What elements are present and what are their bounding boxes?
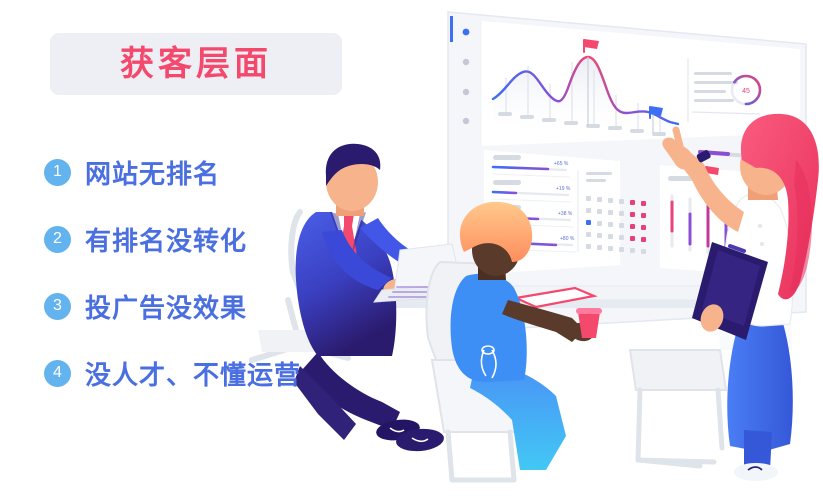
sidebar-active-indicator [450, 16, 453, 42]
title-banner: 获客层面 [50, 33, 342, 95]
sidebar-dot-3-icon[interactable] [463, 89, 469, 95]
donut-gauge-value: 45 [742, 88, 750, 95]
list-item[interactable]: 1 网站无排名 [44, 152, 374, 192]
list-number-badge: 2 [44, 226, 71, 253]
list-number-badge: 3 [44, 293, 71, 320]
shoe [734, 463, 778, 481]
list-number-badge: 1 [44, 159, 71, 186]
list-item-label: 投广告没效果 [85, 288, 247, 325]
progress-value-1: +65 % [554, 161, 569, 167]
illustration-stage: 45 +65 % +19 % [0, 0, 823, 500]
sidebar-dot-2-icon[interactable] [463, 59, 469, 65]
list-number-badge: 4 [44, 360, 71, 387]
sidebar-dot-1-icon[interactable] [463, 29, 470, 36]
sidebar-dot-4-icon[interactable] [463, 118, 469, 124]
list-item[interactable]: 2 有排名没转化 [44, 219, 374, 259]
page-title: 获客层面 [120, 47, 272, 81]
list-item-label: 没人才、不懂运营 [85, 355, 301, 392]
progress-value-4: +80 % [560, 236, 575, 242]
progress-value-2: +19 % [556, 186, 571, 192]
list-item[interactable]: 4 没人才、不懂运营 [44, 353, 374, 393]
list-item[interactable]: 3 投广告没效果 [44, 286, 374, 326]
list-item-label: 网站无排名 [85, 154, 220, 191]
list-item-label: 有排名没转化 [85, 221, 247, 258]
pain-point-list: 1 网站无排名 2 有排名没转化 3 投广告没效果 4 没人才、不懂运营 [44, 152, 374, 420]
progress-value-3: +38 % [558, 211, 573, 217]
